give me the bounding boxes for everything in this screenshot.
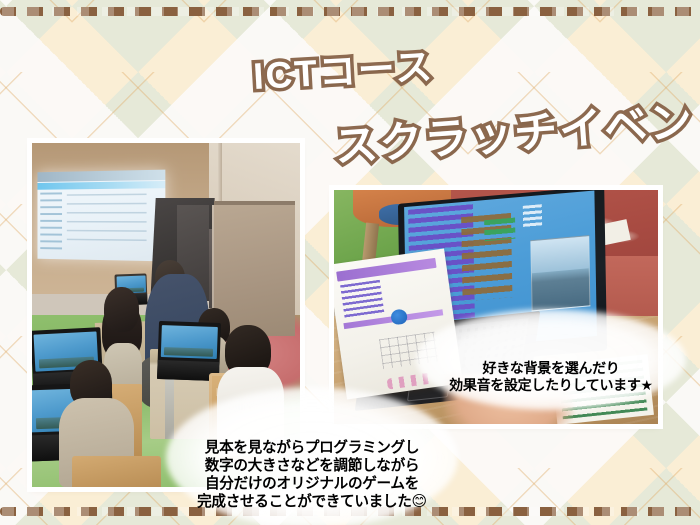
page-title-line-1: ICTコース <box>252 36 435 100</box>
scratch-stage-preview <box>531 235 591 312</box>
laptop-lid <box>161 324 218 359</box>
smiling-face-icon: 😊 <box>412 493 427 510</box>
worksheet-block-list <box>341 279 385 319</box>
photo-child-1-head <box>104 287 139 332</box>
worksheet-blue-shape <box>390 308 408 325</box>
projector-sidebar <box>40 192 62 252</box>
projector-content <box>66 193 145 241</box>
photo-laptop-3 <box>157 321 221 382</box>
caption-bottom: 見本を見ながらプログラミングし 数字の大きさなどを調節しながら 自分だけのオリジ… <box>188 403 436 512</box>
photo-chair-front <box>72 456 160 487</box>
projector-toolbar <box>37 180 164 189</box>
scratch-category-list <box>523 204 542 229</box>
worksheet-header-bar <box>336 257 437 280</box>
photo-projector-screen <box>37 169 164 261</box>
scratch-green-blocks <box>485 218 516 241</box>
stitch-dashes-top <box>0 7 700 16</box>
caption-right: 好きな背景を選んだり 効果音を設定したりしています★ <box>438 325 664 394</box>
caption-bottom-text: 見本を見ながらプログラミングし 数字の大きさなどを調節しながら 自分だけのオリジ… <box>197 440 419 510</box>
scratch-stage-sky <box>532 236 590 273</box>
poster-root: ICTコース スクラッチイベント <box>0 0 700 525</box>
projector-titlebar <box>37 169 164 181</box>
